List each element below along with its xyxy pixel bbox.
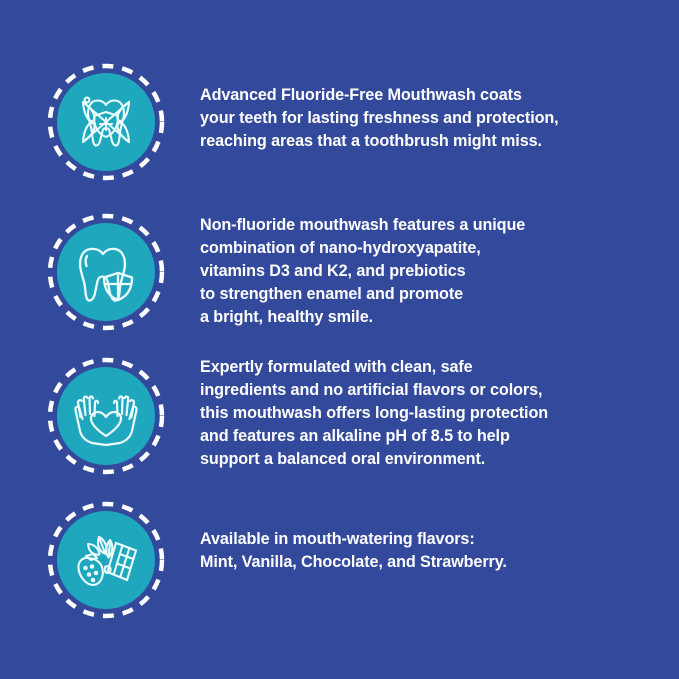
tooth-shield-icon-badge <box>46 212 166 332</box>
feature-description: Non-fluoride mouthwash features a unique… <box>166 212 679 329</box>
tooth-shield-icon <box>70 236 142 308</box>
icon-disc <box>57 73 155 171</box>
hands-holding-heart-icon-badge <box>46 356 166 476</box>
feature-row: Expertly formulated with clean, safe ing… <box>0 356 679 476</box>
strawberry-mint-chocolate-icon-badge <box>46 500 166 620</box>
feature-row: Available in mouth-watering flavors: Min… <box>0 500 679 620</box>
feature-description: Advanced Fluoride-Free Mouthwash coats y… <box>166 62 679 153</box>
icon-disc <box>57 511 155 609</box>
infographic-panel: Advanced Fluoride-Free Mouthwash coats y… <box>0 0 679 679</box>
feature-description: Expertly formulated with clean, safe ing… <box>166 356 679 471</box>
feature-row: Non-fluoride mouthwash features a unique… <box>0 212 679 332</box>
hands-holding-heart-icon <box>69 379 143 453</box>
icon-disc <box>57 367 155 465</box>
strawberry-mint-chocolate-icon <box>69 523 143 597</box>
icon-disc <box>57 223 155 321</box>
feature-row: Advanced Fluoride-Free Mouthwash coats y… <box>0 62 679 182</box>
feature-description: Available in mouth-watering flavors: Min… <box>166 500 679 574</box>
tooth-shield-sparkle-icon <box>70 86 142 158</box>
tooth-shield-sparkle-icon-badge <box>46 62 166 182</box>
